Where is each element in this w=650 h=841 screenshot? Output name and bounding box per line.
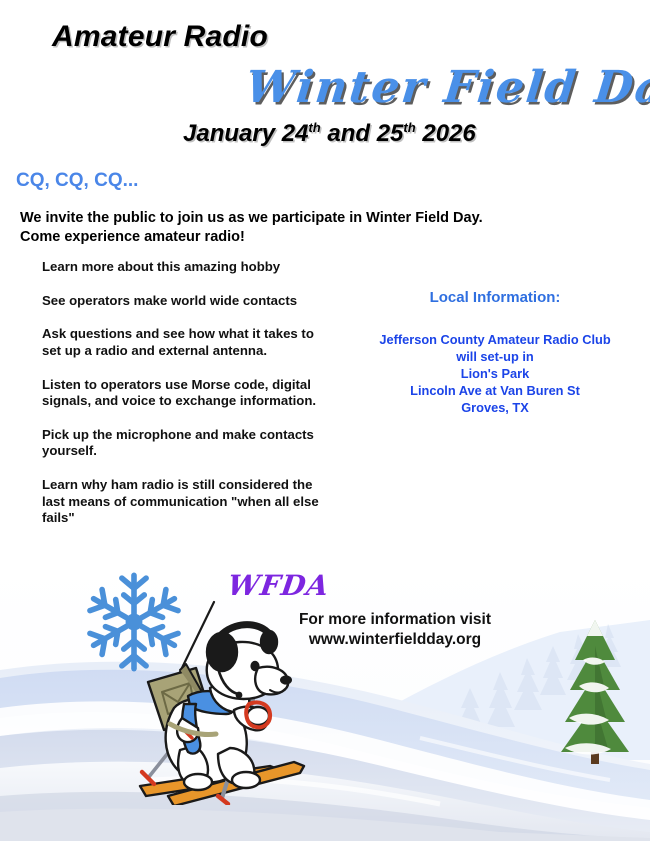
list-item: Listen to operators use Morse code, digi… [42, 377, 332, 410]
cq-call-heading: CQ, CQ, CQ... [16, 170, 138, 192]
more-information-label: For more information visit [275, 610, 515, 630]
invitation-paragraph: We invite the public to join us as we pa… [20, 209, 540, 246]
event-date: January 24th and 25th 2026 [183, 120, 476, 148]
invitation-line-2: Come experience amateur radio! [20, 228, 540, 247]
list-item: See operators make world wide contacts [42, 293, 332, 310]
local-club-name: Jefferson County Amateur Radio Club [350, 331, 640, 348]
page-title-amateur-radio: Amateur Radio [52, 20, 268, 54]
local-venue: Lion's Park [350, 365, 640, 382]
event-date-prefix: January 24 [183, 120, 308, 147]
event-date-middle: and 25 [321, 120, 404, 147]
event-date-year: 2026 [416, 120, 476, 147]
event-date-ordinal-second: th [403, 120, 415, 135]
list-item: Learn why ham radio is still considered … [42, 477, 332, 527]
winter-field-day-poster: Amateur Radio Winter Field Day January 2… [0, 0, 650, 841]
list-item: Learn more about this amazing hobby [42, 259, 332, 276]
activities-list: Learn more about this amazing hobby See … [42, 259, 332, 527]
list-item: Ask questions and see how what it takes … [42, 326, 332, 359]
event-date-ordinal-first: th [308, 120, 320, 135]
local-street: Lincoln Ave at Van Buren St [350, 382, 640, 399]
local-information-heading: Local Information: [360, 289, 630, 306]
invitation-line-1: We invite the public to join us as we pa… [20, 209, 540, 228]
more-information-block: For more information visit www.winterfie… [275, 610, 515, 650]
local-setup-action: will set-up in [350, 348, 640, 365]
list-item: Pick up the microphone and make contacts… [42, 427, 332, 460]
local-information-details: Jefferson County Amateur Radio Club will… [350, 331, 640, 416]
page-title-winter-field-day: Winter Field Day [243, 62, 650, 113]
local-city-state: Groves, TX [350, 399, 640, 416]
wfda-logo-text: WFDA [226, 569, 332, 602]
website-url[interactable]: www.winterfieldday.org [275, 630, 515, 650]
